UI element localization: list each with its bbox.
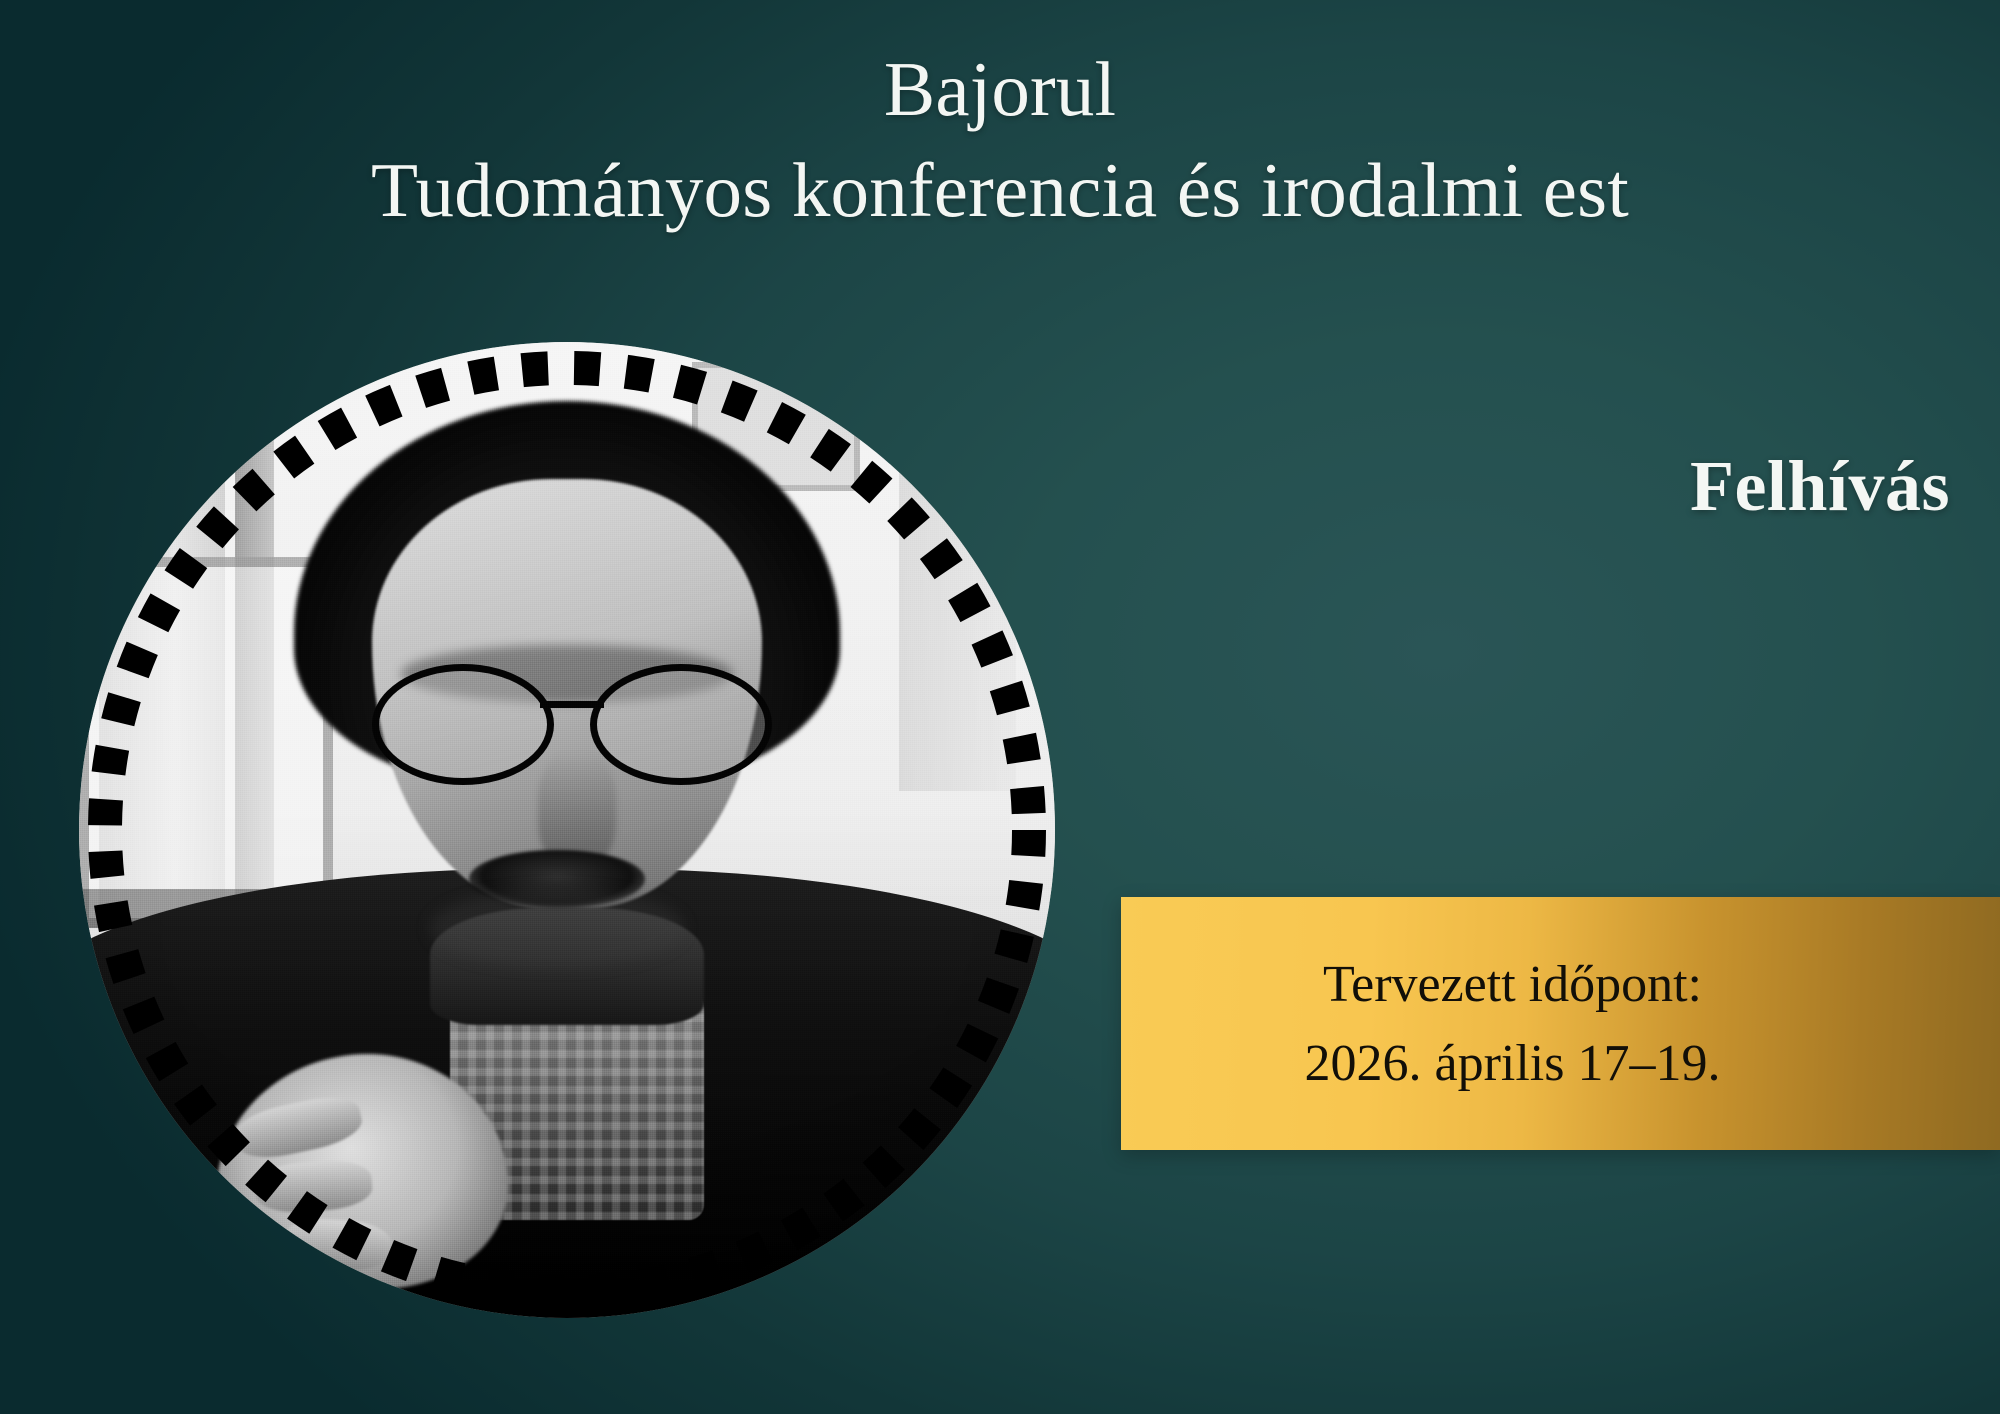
chin-shadow <box>430 889 684 967</box>
portrait-bw-filter <box>79 342 1055 1318</box>
lens-left <box>372 664 554 785</box>
door-panel <box>899 342 1016 791</box>
date-banner: Tervezett időpont: 2026. április 17–19. <box>1121 897 2000 1150</box>
glasses-bridge <box>540 701 604 708</box>
title-line-2: Tudományos konferencia és irodalmi est <box>0 145 2000 236</box>
page-title: Bajorul Tudományos konferencia és irodal… <box>0 44 2000 236</box>
callout-heading: Felhívás <box>1110 445 1950 528</box>
date-label: Tervezett időpont: <box>1121 944 1904 1023</box>
portrait-circle <box>79 342 1055 1318</box>
poster-canvas: Bajorul Tudományos konferencia és irodal… <box>0 0 2000 1414</box>
date-banner-text: Tervezett időpont: 2026. április 17–19. <box>1121 944 2000 1102</box>
title-line-1: Bajorul <box>0 44 2000 135</box>
date-value: 2026. április 17–19. <box>1121 1024 1904 1103</box>
lens-right <box>590 664 772 785</box>
portrait-image <box>79 342 1055 1318</box>
